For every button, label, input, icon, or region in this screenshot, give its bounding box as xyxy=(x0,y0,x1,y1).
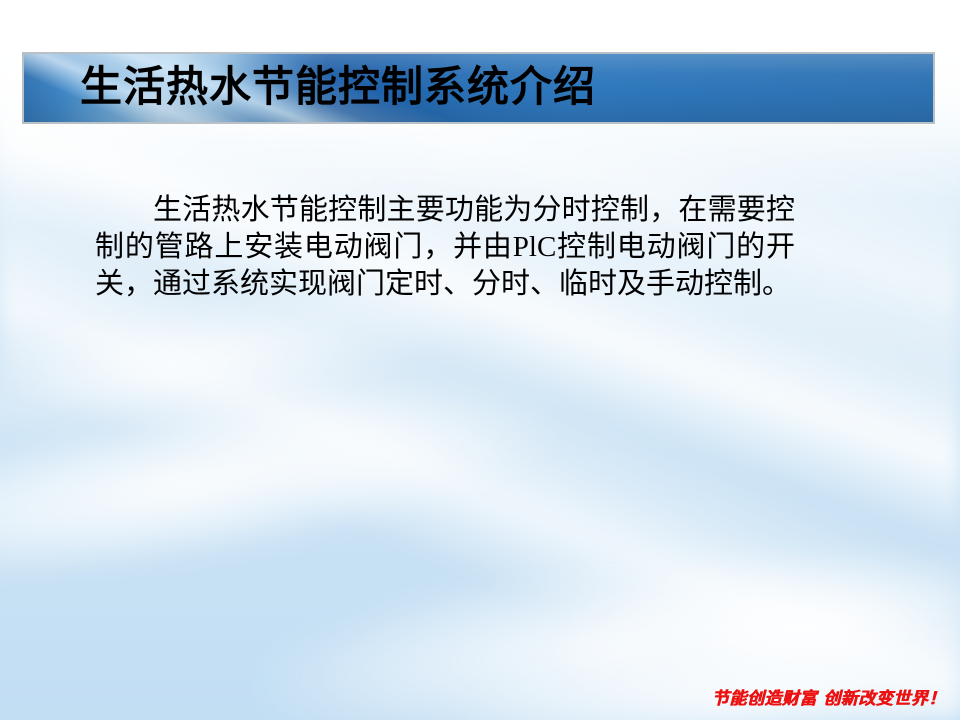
footer-slogan: 节能创造财富 创新改变世界！ xyxy=(712,684,946,709)
page-title: 生活热水节能控制系统介绍 xyxy=(80,67,596,109)
presentation-slide: 生活热水节能控制系统介绍 生活热水节能控制主要功能为分时控制，在需要控制的管路上… xyxy=(0,0,960,720)
slide-body-block: 生活热水节能控制主要功能为分时控制，在需要控制的管路上安装电动阀门，并由PlC控… xyxy=(95,192,795,303)
body-paragraph: 生活热水节能控制主要功能为分时控制，在需要控制的管路上安装电动阀门，并由PlC控… xyxy=(95,192,795,303)
slide-title-banner: 生活热水节能控制系统介绍 xyxy=(22,52,935,124)
